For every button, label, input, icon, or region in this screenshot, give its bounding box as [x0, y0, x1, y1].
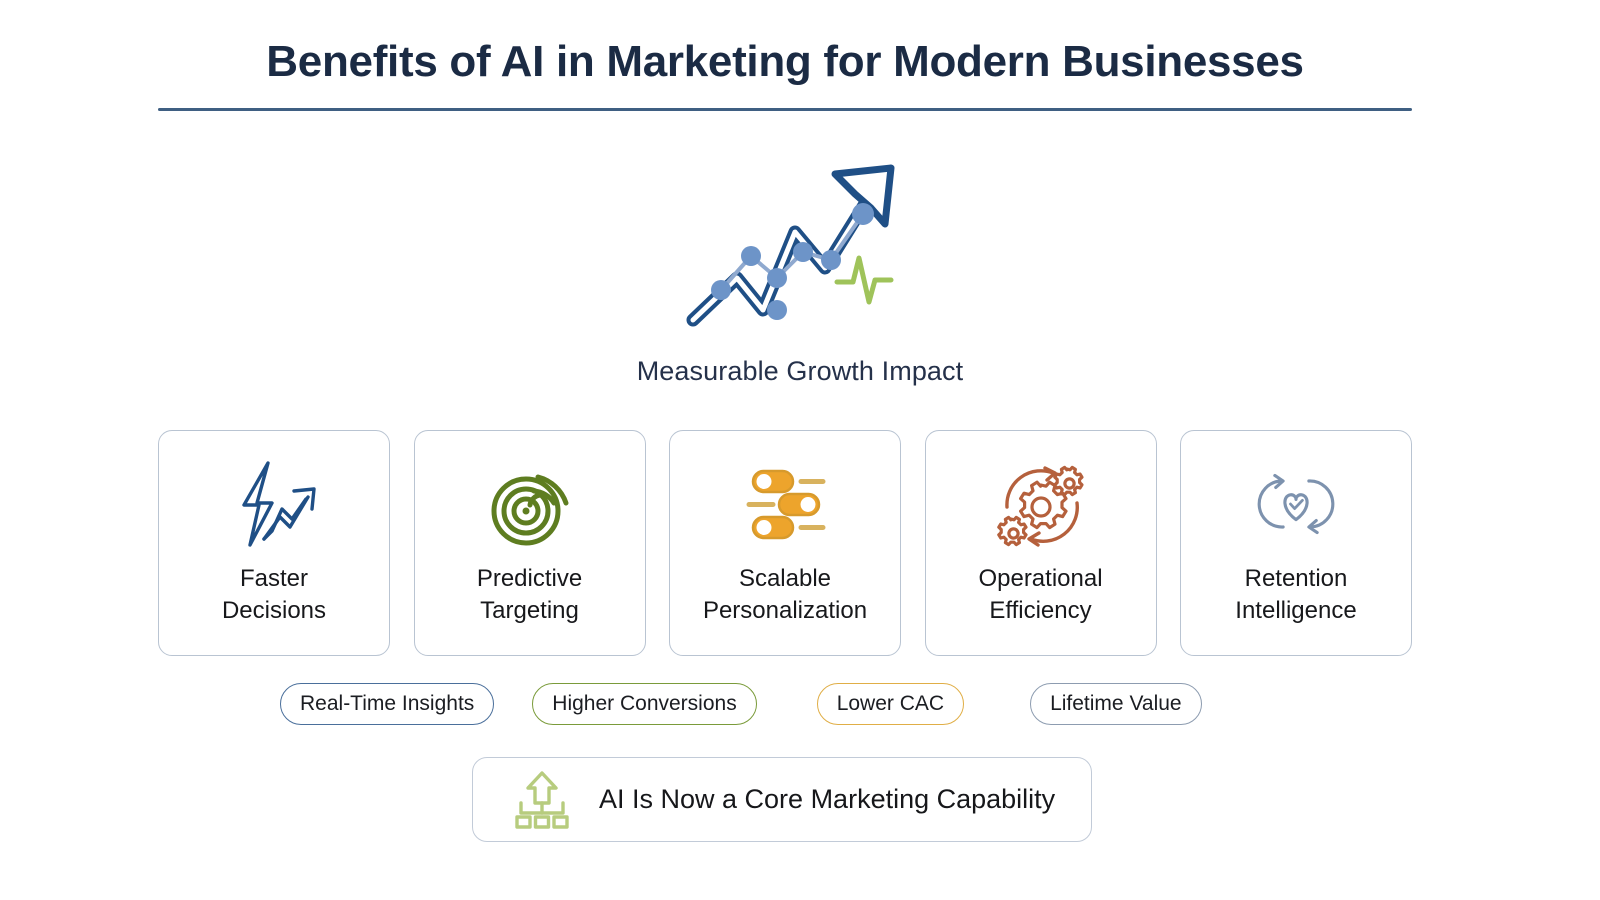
benefit-card-label-line1: Predictive	[477, 565, 582, 592]
summary-banner-text: AI Is Now a Core Marketing Capability	[599, 784, 1055, 815]
pill-higher-conversions[interactable]: Higher Conversions	[532, 683, 756, 725]
toggle-sliders-icon	[739, 459, 831, 549]
benefit-card-label-line1: Operational	[978, 565, 1102, 592]
infinity-loop-heart-icon	[1250, 459, 1342, 549]
growth-arrow-chart-icon	[685, 160, 915, 335]
benefit-card-label-line2: Personalization	[703, 597, 867, 624]
pill-real-time-insights[interactable]: Real-Time Insights	[280, 683, 494, 725]
hero-section: Measurable Growth Impact	[0, 160, 1600, 387]
scale-up-hierarchy-icon	[511, 769, 573, 831]
benefit-card-label-line1: Scalable	[739, 565, 831, 592]
radar-target-icon	[484, 459, 576, 549]
title-divider	[158, 108, 1412, 111]
benefit-card-retention-intelligence[interactable]: Retention Intelligence	[1180, 430, 1412, 656]
benefit-card-label: Retention Intelligence	[1227, 563, 1364, 626]
lightning-trend-arrow-icon	[228, 459, 320, 549]
benefit-card-label: Faster Decisions	[214, 563, 334, 626]
benefit-card-faster-decisions[interactable]: Faster Decisions	[158, 430, 390, 656]
benefit-card-label-line2: Targeting	[480, 597, 579, 624]
page-title: Benefits of AI in Marketing for Modern B…	[158, 38, 1412, 86]
benefit-card-label-line2: Efficiency	[989, 597, 1091, 624]
title-block: Benefits of AI in Marketing for Modern B…	[158, 38, 1412, 111]
benefit-card-scalable-personalization[interactable]: Scalable Personalization	[669, 430, 901, 656]
gears-refresh-icon	[995, 459, 1087, 549]
benefit-cards-row: Faster Decisions Predictive Targeting	[158, 430, 1412, 656]
outcome-pills-row: Real-Time Insights Higher Conversions Lo…	[280, 683, 1300, 725]
benefit-card-predictive-targeting[interactable]: Predictive Targeting	[414, 430, 646, 656]
benefit-card-label: Predictive Targeting	[469, 563, 590, 626]
benefit-card-operational-efficiency[interactable]: Operational Efficiency	[925, 430, 1157, 656]
pill-lifetime-value[interactable]: Lifetime Value	[1030, 683, 1202, 725]
benefit-card-label: Scalable Personalization	[695, 563, 875, 626]
benefit-card-label-line1: Faster	[240, 565, 308, 592]
benefit-card-label-line2: Decisions	[222, 597, 326, 624]
summary-banner[interactable]: AI Is Now a Core Marketing Capability	[472, 757, 1092, 842]
infographic-page: Benefits of AI in Marketing for Modern B…	[0, 0, 1600, 900]
benefit-card-label: Operational Efficiency	[970, 563, 1110, 626]
benefit-card-label-line1: Retention	[1245, 565, 1348, 592]
benefit-card-label-line2: Intelligence	[1235, 597, 1356, 624]
hero-caption: Measurable Growth Impact	[0, 356, 1600, 387]
pill-lower-cac[interactable]: Lower CAC	[817, 683, 964, 725]
